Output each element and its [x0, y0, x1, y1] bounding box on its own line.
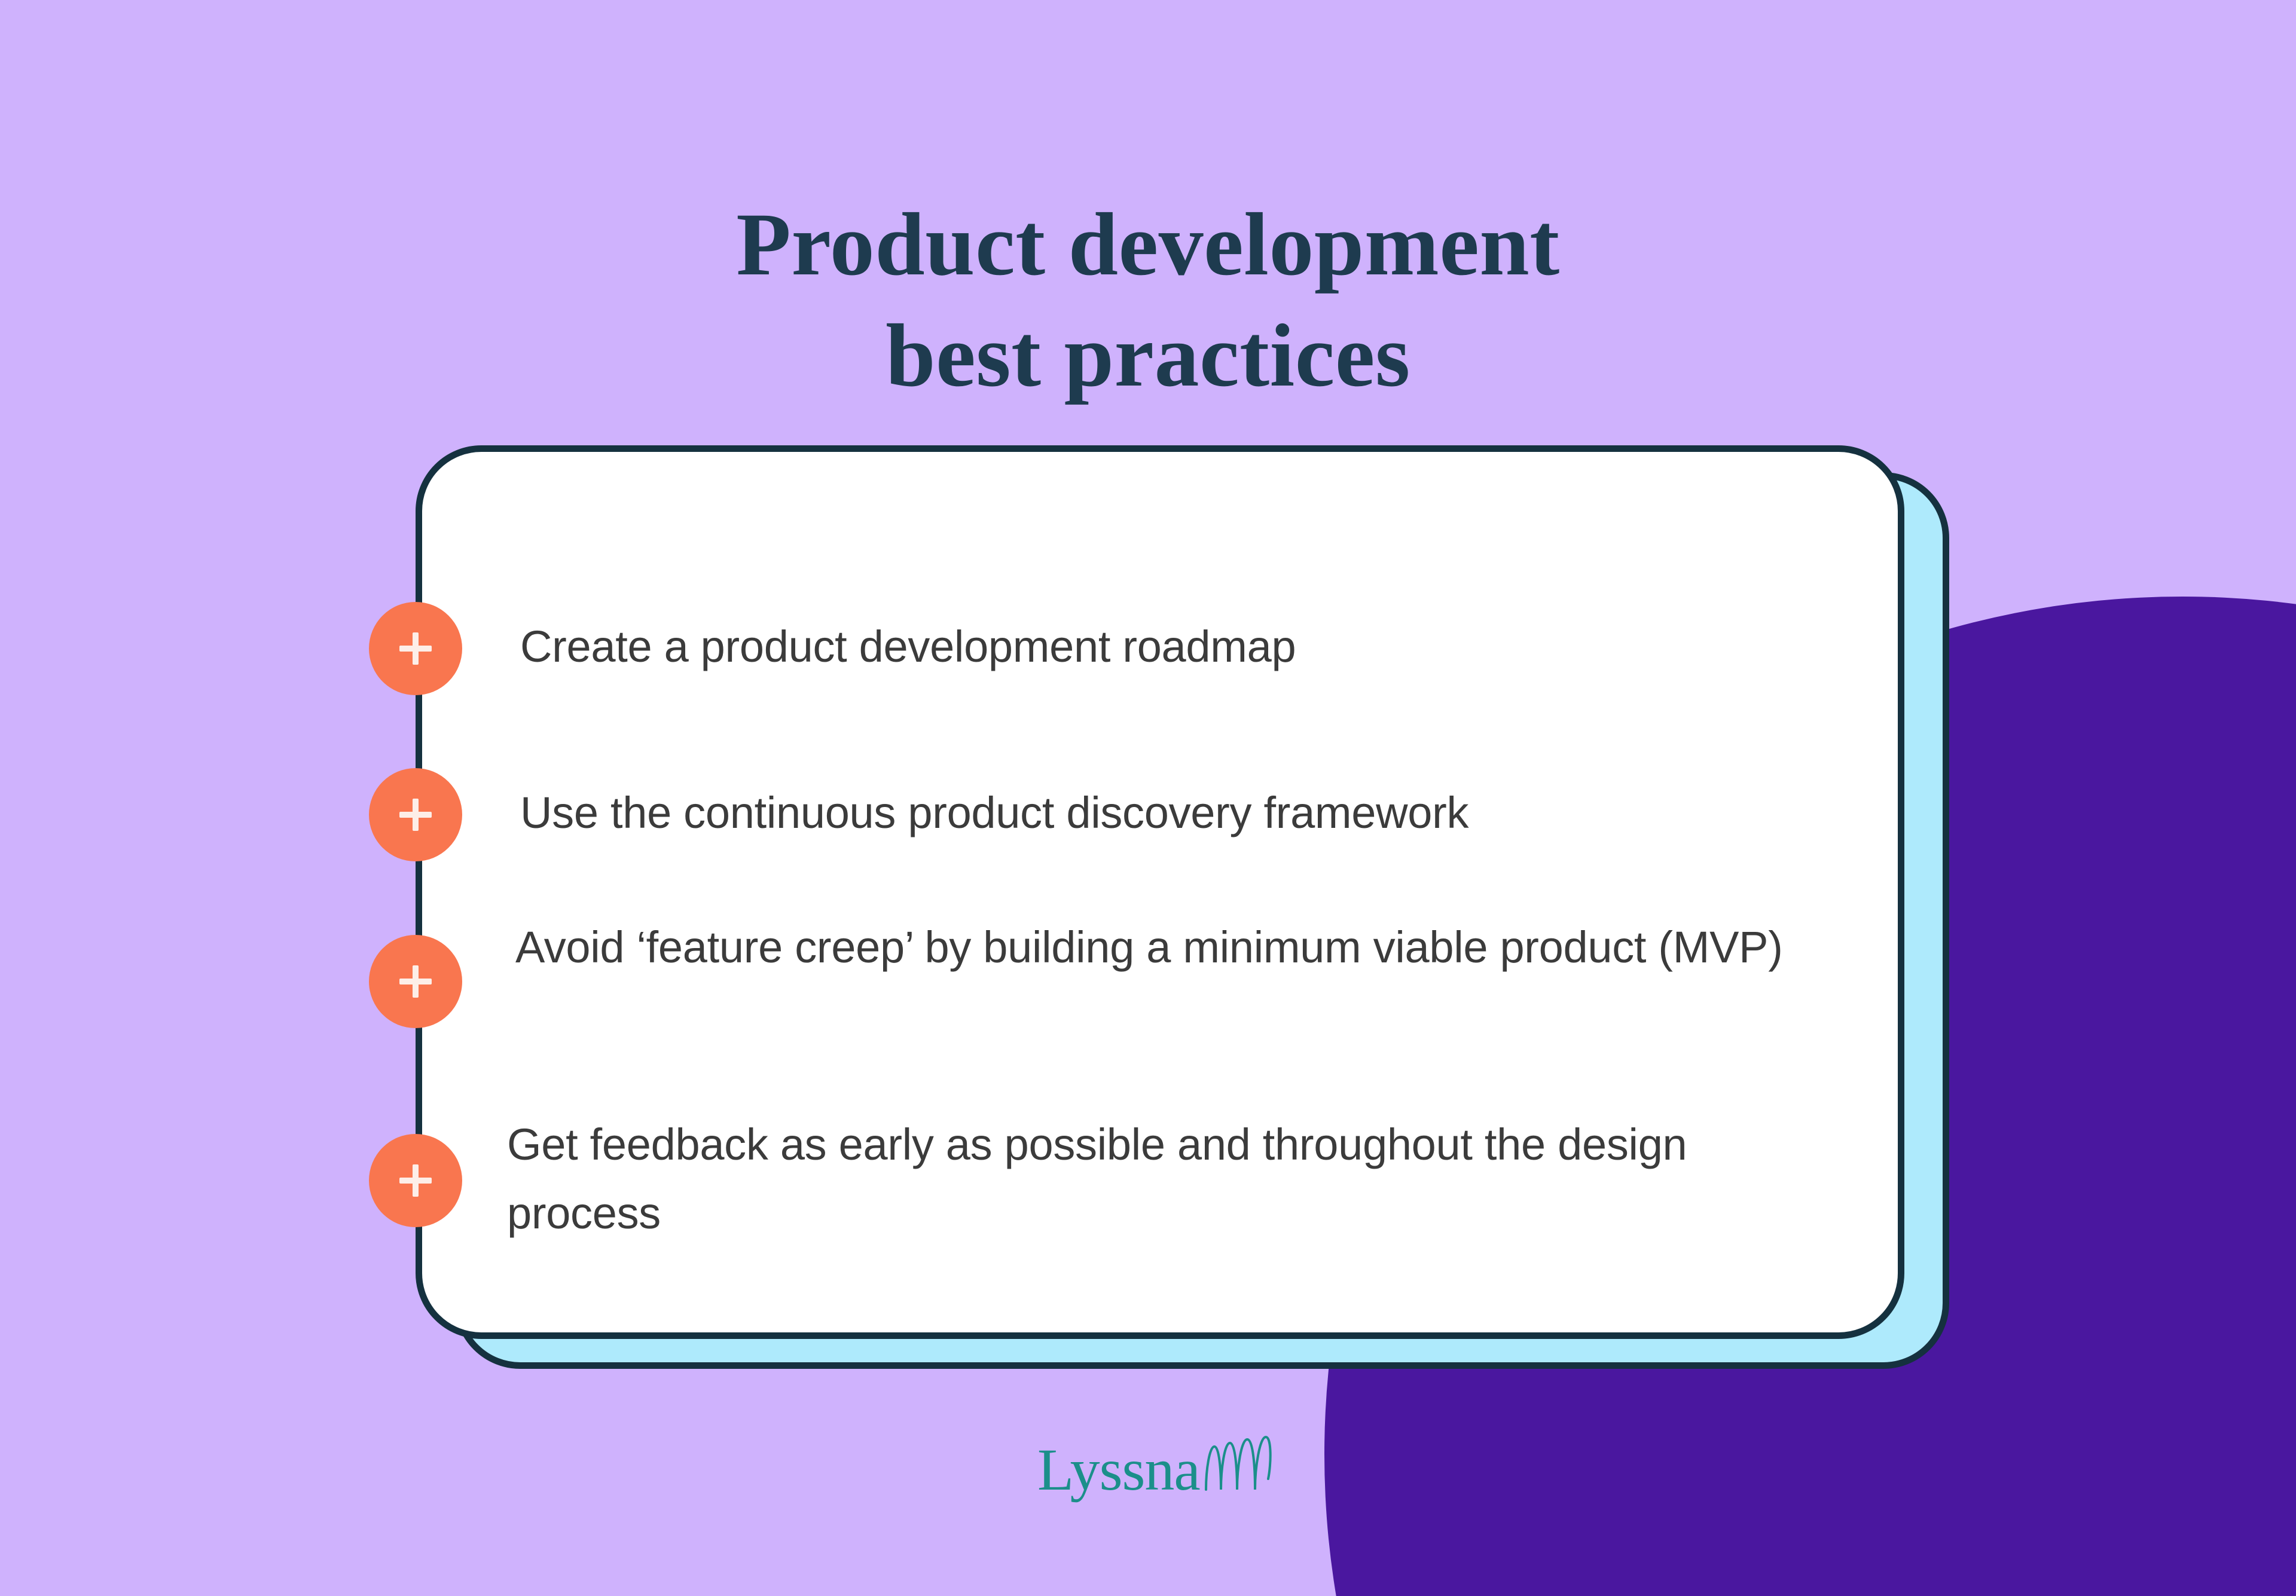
plus-icon [399, 965, 432, 998]
plus-badge-3[interactable] [369, 935, 462, 1028]
plus-icon [399, 1164, 432, 1197]
plus-icon [399, 799, 432, 831]
slide-canvas: Product development best practices Creat… [0, 0, 2296, 1596]
lyssna-logo[interactable]: Lyssna [1037, 1435, 1273, 1500]
page-title: Product development best practices [0, 189, 2296, 411]
plus-icon [399, 632, 432, 665]
plus-badge-4[interactable] [369, 1134, 462, 1227]
plus-badge-2[interactable] [369, 768, 462, 861]
logo-wordmark: Lyssna [1037, 1440, 1200, 1500]
list-item-label-4: Get feedback as early as possible and th… [507, 1111, 1852, 1248]
plus-badge-1[interactable] [369, 602, 462, 695]
list-item-label-3: Avoid ‘feature creep’ by building a mini… [515, 913, 1849, 982]
lyssna-squiggle-icon [1201, 1435, 1273, 1497]
list-item-label-2: Use the continuous product discovery fra… [520, 779, 1830, 848]
list-item-label-1: Create a product development roadmap [520, 613, 1830, 681]
